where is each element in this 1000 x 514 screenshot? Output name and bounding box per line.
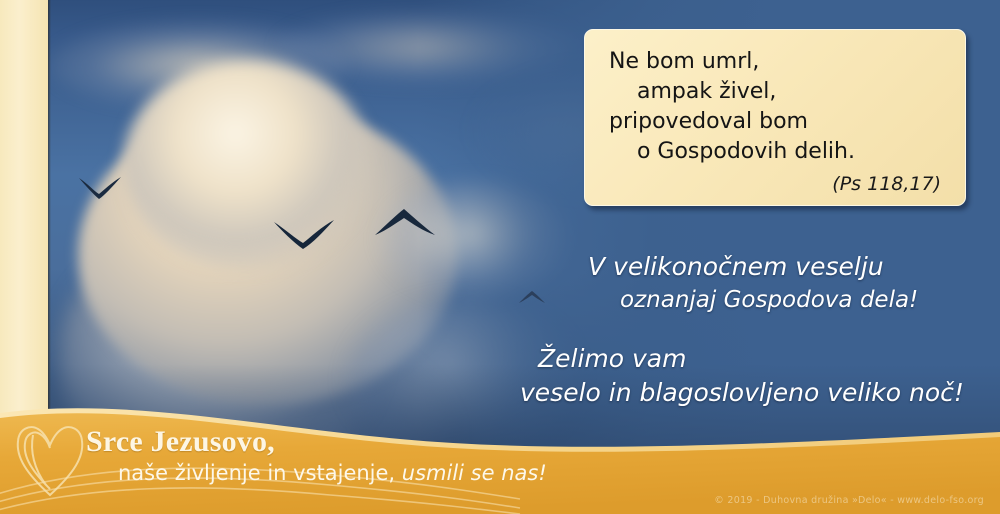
bird-icon	[78, 175, 122, 201]
copyright-notice: © 2019 - Duhovna družina »Delo« - www.de…	[714, 495, 984, 506]
heart-outline-icon	[10, 417, 90, 501]
footer-banner: Srce Jezusovo, naše življenje in vstajen…	[0, 399, 1000, 514]
greeting-line-1: V velikonočnem veselju	[520, 250, 970, 284]
brand-title: Srce Jezusovo,	[86, 425, 275, 459]
greeting-line-3: Želimo vam	[520, 342, 970, 376]
scripture-quote-box: Ne bom umrl, ampak živel, pripovedoval b…	[584, 29, 966, 206]
bird-icon	[273, 218, 335, 252]
greeting-block: V velikonočnem veselju oznanjaj Gospodov…	[520, 250, 970, 410]
scripture-reference: (Ps 118,17)	[609, 173, 945, 195]
brand-subtitle-italic: usmili se nas!	[402, 461, 547, 485]
bird-icon	[373, 205, 437, 241]
scripture-quote-text: Ne bom umrl, ampak živel, pripovedoval b…	[609, 47, 945, 167]
greeting-line-2: oznanjaj Gospodova dela!	[520, 284, 970, 316]
easter-greeting-card: Srce Jezusovo, zaupam Vate! Ne bom umrl,…	[0, 0, 1000, 514]
brand-subtitle-plain: naše življenje in vstajenje,	[118, 461, 402, 485]
brand-subtitle: naše življenje in vstajenje, usmili se n…	[118, 461, 547, 485]
cloud-mass	[123, 60, 373, 270]
